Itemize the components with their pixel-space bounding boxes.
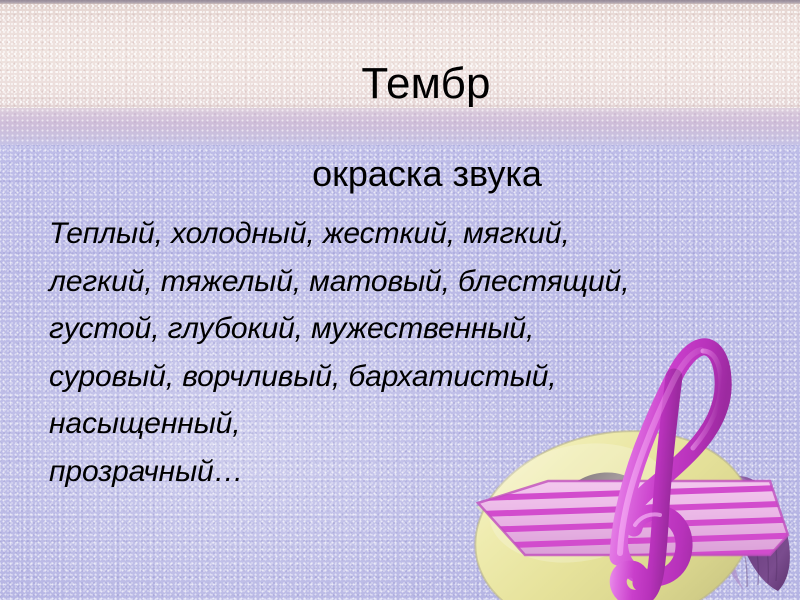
body-line: насыщенный, [49, 400, 779, 448]
slide-subtitle: окраска звука [0, 153, 800, 195]
top-edge-strip [0, 0, 800, 4]
body-line: Теплый, холодный, жесткий, мягкий, [49, 210, 779, 258]
slide-body: Теплый, холодный, жесткий, мягкий, легки… [49, 210, 779, 495]
body-line: легкий, тяжелый, матовый, блестящий, [49, 258, 779, 306]
presentation-slide: Тембр окраска звука Теплый, холодный, же… [0, 0, 800, 600]
body-line: густой, глубокий, мужественный, [49, 305, 779, 353]
body-line: прозрачный… [49, 448, 779, 496]
banner-transition-texture [0, 108, 800, 145]
slide-title: Тембр [0, 58, 800, 110]
body-line: суровый, ворчливый, бархатистый, [49, 353, 779, 401]
